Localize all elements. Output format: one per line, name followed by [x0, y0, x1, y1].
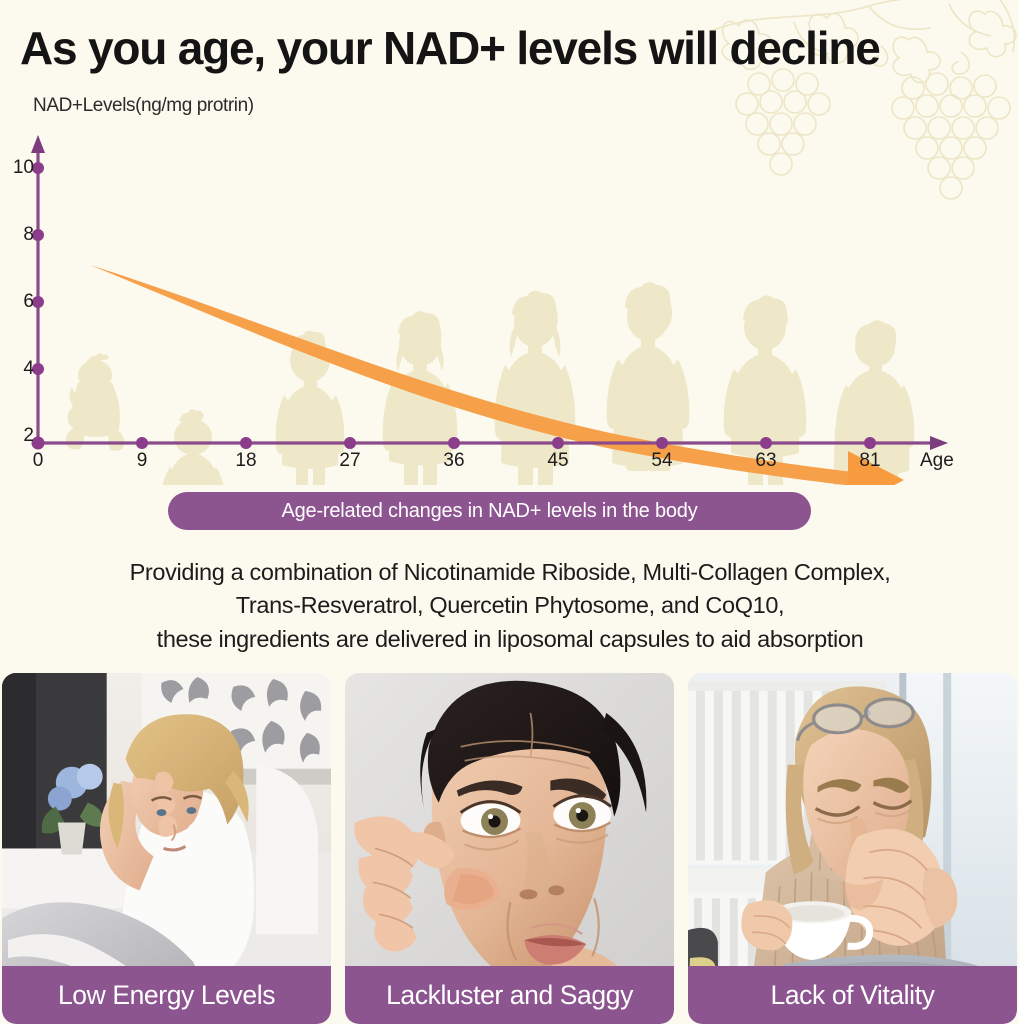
card-caption-text: Low Energy Levels [58, 980, 275, 1011]
symptom-card-low-energy[interactable]: Low Energy Levels [2, 673, 331, 1024]
nad-decline-chart: NAD+Levels(ng/mg protrin) [0, 95, 1019, 485]
card-caption: Lackluster and Saggy [345, 966, 674, 1024]
chart-x-axis-label: Age [920, 450, 954, 472]
ingredients-description: Providing a combination of Nicotinamide … [20, 556, 1000, 656]
card-caption: Low Energy Levels [2, 966, 331, 1024]
description-line-1: Providing a combination of Nicotinamide … [20, 556, 1000, 589]
chart-caption-badge: Age-related changes in NAD+ levels in th… [168, 492, 811, 530]
x-tick-18: 18 [224, 450, 268, 472]
silhouette-toddler [161, 409, 225, 485]
silhouette-infant [66, 353, 124, 451]
x-tick-45: 45 [536, 450, 580, 472]
card-caption-text: Lackluster and Saggy [386, 980, 633, 1011]
y-tick-10: 10 [0, 157, 34, 179]
y-tick-8: 8 [0, 224, 34, 246]
description-line-3: these ingredients are delivered in lipos… [20, 623, 1000, 656]
symptom-card-lack-vitality[interactable]: Lack of Vitality [688, 673, 1017, 1024]
x-tick-81: 81 [848, 450, 892, 472]
chart-caption-text: Age-related changes in NAD+ levels in th… [281, 500, 697, 523]
y-tick-2: 2 [0, 425, 34, 447]
x-tick-0: 0 [16, 450, 60, 472]
card-caption-text: Lack of Vitality [771, 980, 935, 1011]
symptom-card-saggy-skin[interactable]: Lackluster and Saggy [345, 673, 674, 1024]
x-tick-36: 36 [432, 450, 476, 472]
chart-plot-area [0, 95, 1019, 485]
x-tick-9: 9 [120, 450, 164, 472]
symptom-card-row: Low Energy Levels [0, 673, 1019, 1024]
x-tick-27: 27 [328, 450, 372, 472]
infographic-page: As you age, your NAD+ levels will declin… [0, 0, 1019, 1024]
x-tick-63: 63 [744, 450, 788, 472]
y-tick-6: 6 [0, 291, 34, 313]
description-line-2: Trans-Resveratrol, Quercetin Phytosome, … [20, 589, 1000, 622]
card-caption: Lack of Vitality [688, 966, 1017, 1024]
page-title: As you age, your NAD+ levels will declin… [20, 24, 980, 72]
y-tick-4: 4 [0, 358, 34, 380]
x-tick-54: 54 [640, 450, 684, 472]
